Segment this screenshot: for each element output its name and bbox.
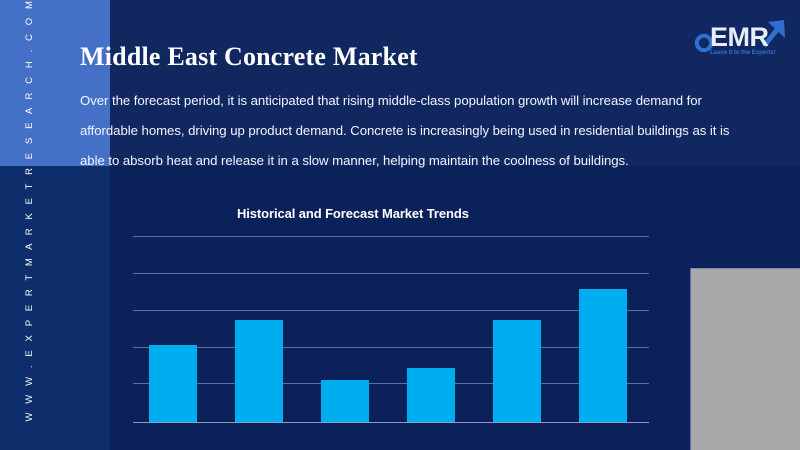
chart-axis-line (133, 422, 649, 423)
gray-accent-panel (690, 268, 800, 450)
chart-gridline (133, 347, 649, 348)
chart-bar (149, 345, 197, 422)
chart-bar (579, 289, 627, 422)
chart-gridline (133, 273, 649, 274)
svg-text:EMR: EMR (710, 22, 769, 52)
chart-bar (493, 320, 541, 422)
logo-tagline: Leave it to the Experts! (710, 49, 776, 56)
chart-gridline (133, 236, 649, 237)
chart-bar (407, 368, 455, 422)
body-paragraph: Over the forecast period, it is anticipa… (80, 86, 752, 176)
chart-bar (235, 320, 283, 422)
page-title: Middle East Concrete Market (80, 42, 418, 72)
emr-logo[interactable]: EMR Leave it to the Experts! (692, 10, 788, 56)
slide-canvas: W W W . E X P E R T M A R K E T R E S E … (0, 0, 800, 450)
chart-bar (321, 380, 369, 422)
bar-chart-plot (133, 236, 649, 422)
website-url-vertical: W W W . E X P E R T M A R K E T R E S E … (24, 0, 42, 422)
chart-title: Historical and Forecast Market Trends (237, 206, 469, 221)
chart-gridline (133, 383, 649, 384)
chart-gridline (133, 310, 649, 311)
